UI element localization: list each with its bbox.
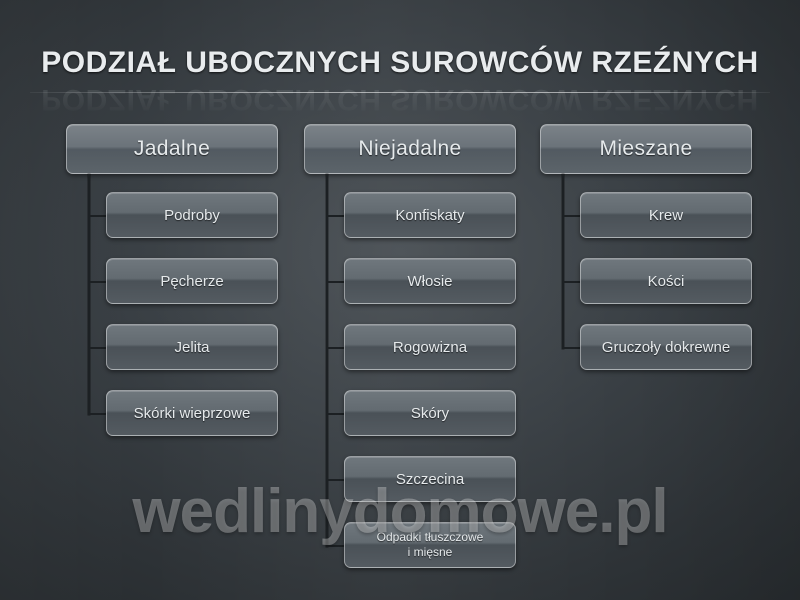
connector-branch-niejadalne-6 xyxy=(326,545,344,547)
column-heading-jadalne[interactable]: Jadalne xyxy=(66,124,278,174)
node-odpadki-line1: Odpadki tłuszczowe xyxy=(377,530,484,545)
node-rogowizna[interactable]: Rogowizna xyxy=(344,324,516,370)
connector-trunk-niejadalne xyxy=(326,174,328,547)
node-jelita[interactable]: Jelita xyxy=(106,324,278,370)
node-szczecina[interactable]: Szczecina xyxy=(344,456,516,502)
connector-branch-niejadalne-2 xyxy=(326,281,344,283)
connector-branch-jadalne-1 xyxy=(88,215,106,217)
connector-trunk-jadalne xyxy=(88,174,90,415)
connector-branch-mieszane-3 xyxy=(562,347,580,349)
connector-branch-jadalne-4 xyxy=(88,413,106,415)
node-gruczoly-dokrewne[interactable]: Gruczoły dokrewne xyxy=(580,324,752,370)
slide-canvas: Podział ubocznych surowców rzeźnych Podz… xyxy=(0,0,800,600)
connector-branch-jadalne-3 xyxy=(88,347,106,349)
page-title: Podział ubocznych surowców rzeźnych xyxy=(0,46,800,80)
node-krew[interactable]: Krew xyxy=(580,192,752,238)
node-pecherze[interactable]: Pęcherze xyxy=(106,258,278,304)
connector-branch-niejadalne-3 xyxy=(326,347,344,349)
node-skorki-wieprzowe[interactable]: Skórki wieprzowe xyxy=(106,390,278,436)
node-kosci[interactable]: Kości xyxy=(580,258,752,304)
connector-branch-mieszane-2 xyxy=(562,281,580,283)
column-heading-niejadalne[interactable]: Niejadalne xyxy=(304,124,516,174)
node-wlosie[interactable]: Włosie xyxy=(344,258,516,304)
connector-branch-mieszane-1 xyxy=(562,215,580,217)
node-konfiskaty[interactable]: Konfiskaty xyxy=(344,192,516,238)
node-odpadki-line2: i mięsne xyxy=(408,545,453,560)
connector-trunk-mieszane xyxy=(562,174,564,349)
title-divider xyxy=(30,92,770,93)
page-title-reflection: Podział ubocznych surowców rzeźnych xyxy=(0,82,800,116)
connector-branch-niejadalne-1 xyxy=(326,215,344,217)
connector-branch-niejadalne-4 xyxy=(326,413,344,415)
connector-branch-niejadalne-5 xyxy=(326,479,344,481)
connector-branch-jadalne-2 xyxy=(88,281,106,283)
node-skory[interactable]: Skóry xyxy=(344,390,516,436)
title-area: Podział ubocznych surowców rzeźnych Podz… xyxy=(0,46,800,108)
node-podroby[interactable]: Podroby xyxy=(106,192,278,238)
column-heading-mieszane[interactable]: Mieszane xyxy=(540,124,752,174)
node-odpadki-tluszczowe-i-miesne[interactable]: Odpadki tłuszczowe i mięsne xyxy=(344,522,516,568)
